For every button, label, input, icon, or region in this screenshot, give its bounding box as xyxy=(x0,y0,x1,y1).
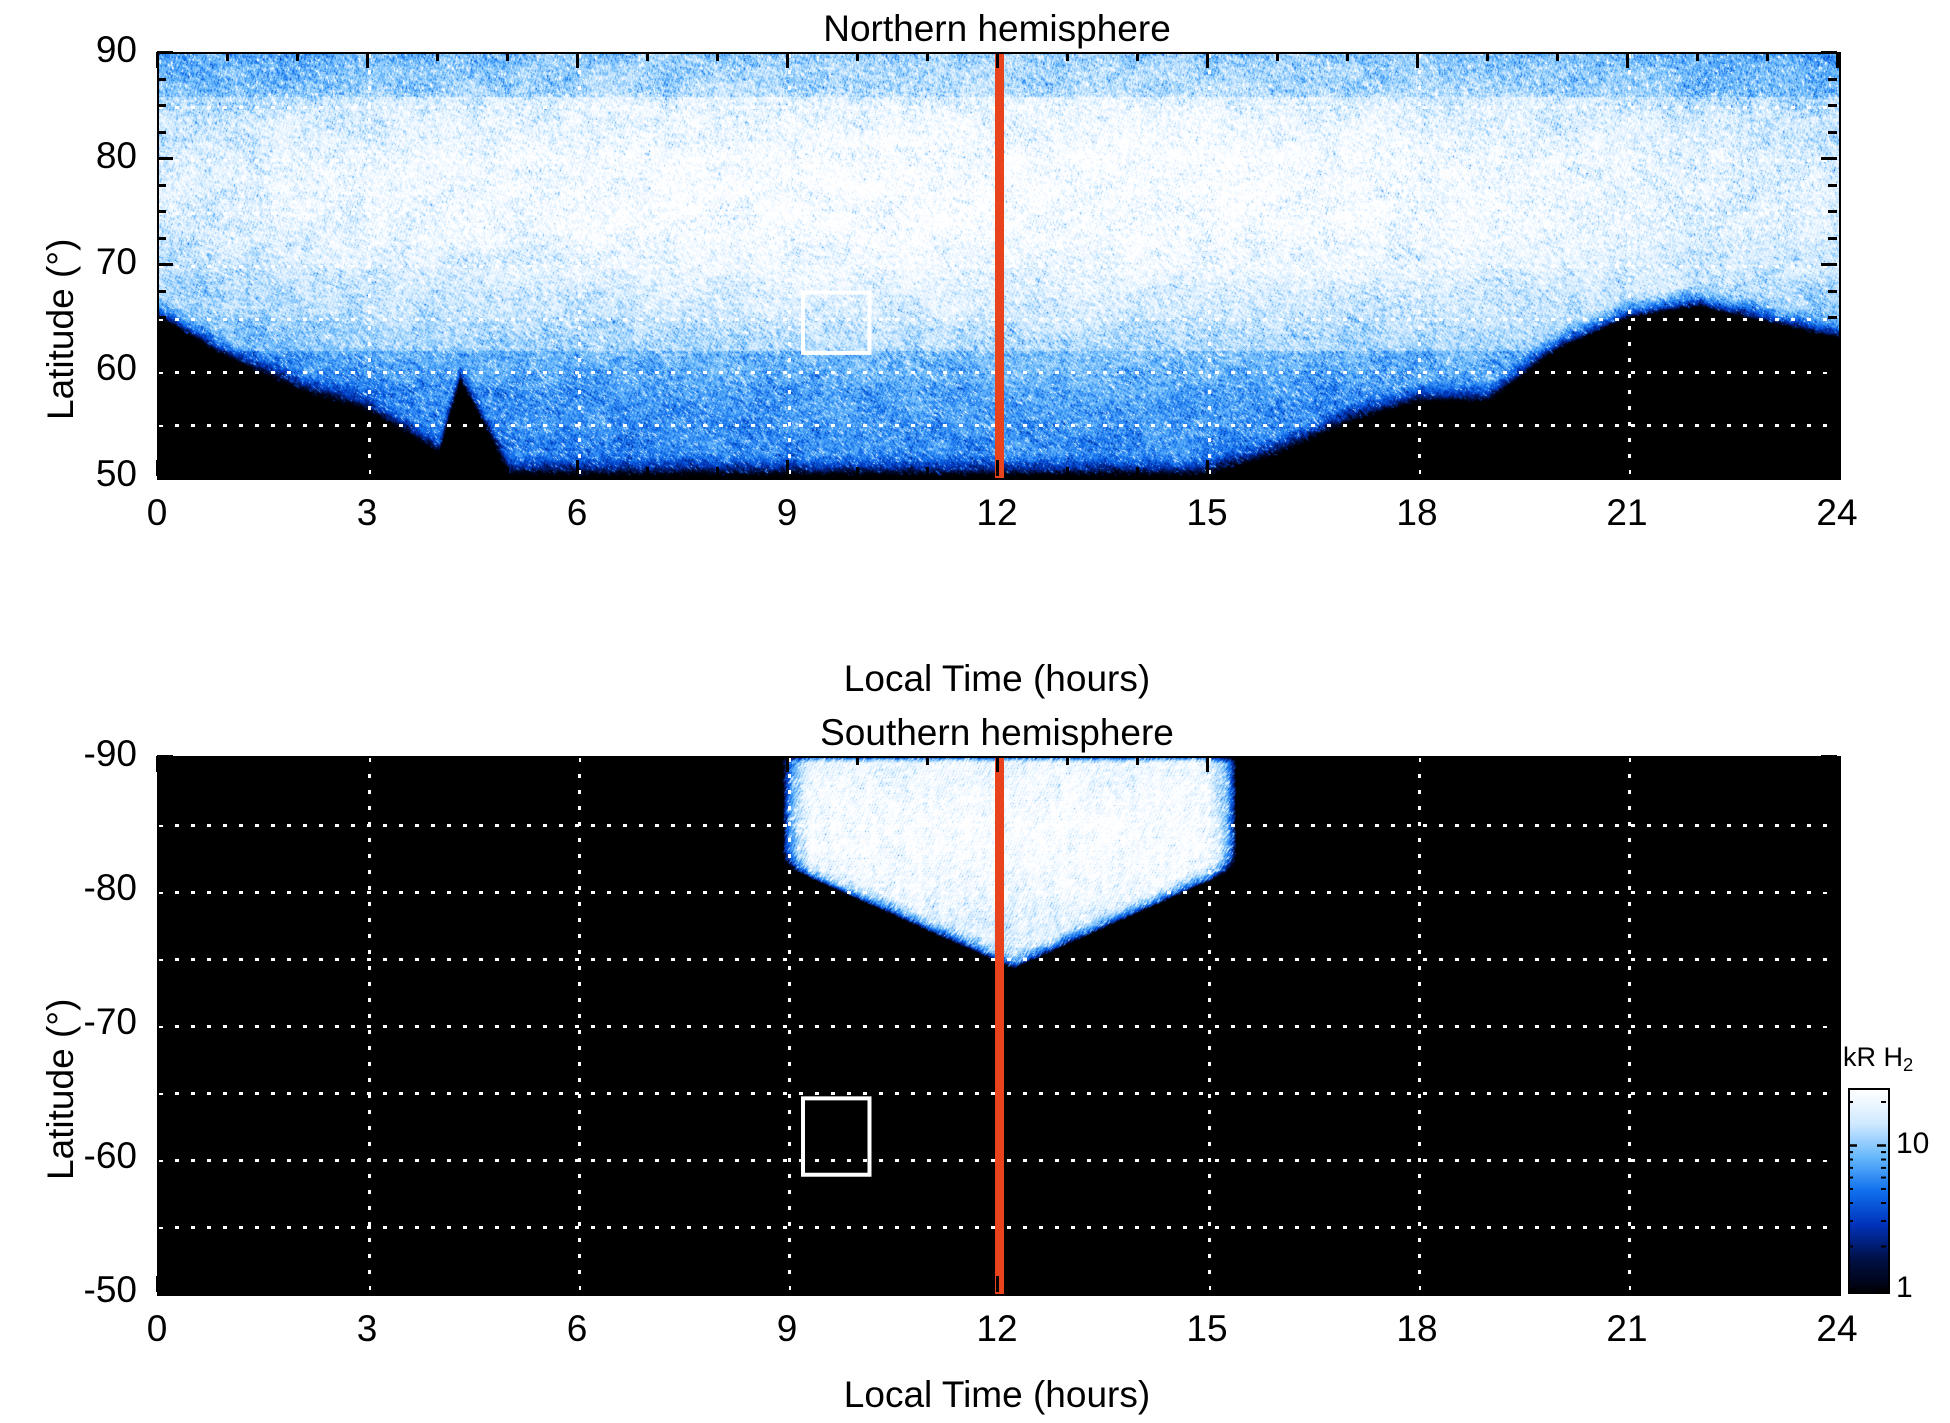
panel-southern-yaxis-title: Latitude (°) xyxy=(40,999,82,1180)
colorbar-title: kR H2 xyxy=(1843,1042,1913,1076)
xtick-label: 6 xyxy=(517,492,637,534)
colorbar-tick-label: 1 xyxy=(1896,1271,1913,1305)
ytick-label: -90 xyxy=(0,733,137,775)
xtick-label: 24 xyxy=(1777,1308,1897,1350)
xtick-label: 12 xyxy=(937,1308,1057,1350)
panel-southern-xaxis-title: Local Time (hours) xyxy=(157,1374,1837,1416)
xtick-label: 21 xyxy=(1567,1308,1687,1350)
xtick-label: 15 xyxy=(1147,492,1267,534)
xtick-label: 21 xyxy=(1567,492,1687,534)
colorbar-gradient xyxy=(1850,1090,1888,1292)
panel-northern-yaxis-title: Latitude (°) xyxy=(40,239,82,420)
xtick-label: 0 xyxy=(97,492,217,534)
xtick-label: 24 xyxy=(1777,492,1897,534)
xtick-label: 18 xyxy=(1357,1308,1477,1350)
panel-southern-axis-ticks xyxy=(100,724,1900,1344)
xtick-label: 6 xyxy=(517,1308,637,1350)
ytick-label: -50 xyxy=(0,1269,137,1311)
xtick-label: 15 xyxy=(1147,1308,1267,1350)
ytick-label: 80 xyxy=(0,135,137,177)
panel-northern-axis-ticks xyxy=(100,20,1900,520)
xtick-label: 18 xyxy=(1357,492,1477,534)
xtick-label: 9 xyxy=(727,1308,847,1350)
ytick-label: 50 xyxy=(0,453,137,495)
colorbar-tick-label: 10 xyxy=(1896,1127,1929,1161)
panel-northern-xaxis-title: Local Time (hours) xyxy=(157,658,1837,700)
colorbar-title-subscript: 2 xyxy=(1903,1054,1913,1075)
colorbar-gradient-box xyxy=(1848,1088,1890,1294)
xtick-label: 0 xyxy=(97,1308,217,1350)
xtick-label: 9 xyxy=(727,492,847,534)
ytick-label: 90 xyxy=(0,29,137,71)
xtick-label: 3 xyxy=(307,1308,427,1350)
xtick-label: 12 xyxy=(937,492,1057,534)
ytick-label: -80 xyxy=(0,867,137,909)
colorbar-title-text: kR H xyxy=(1843,1042,1903,1072)
xtick-label: 3 xyxy=(307,492,427,534)
